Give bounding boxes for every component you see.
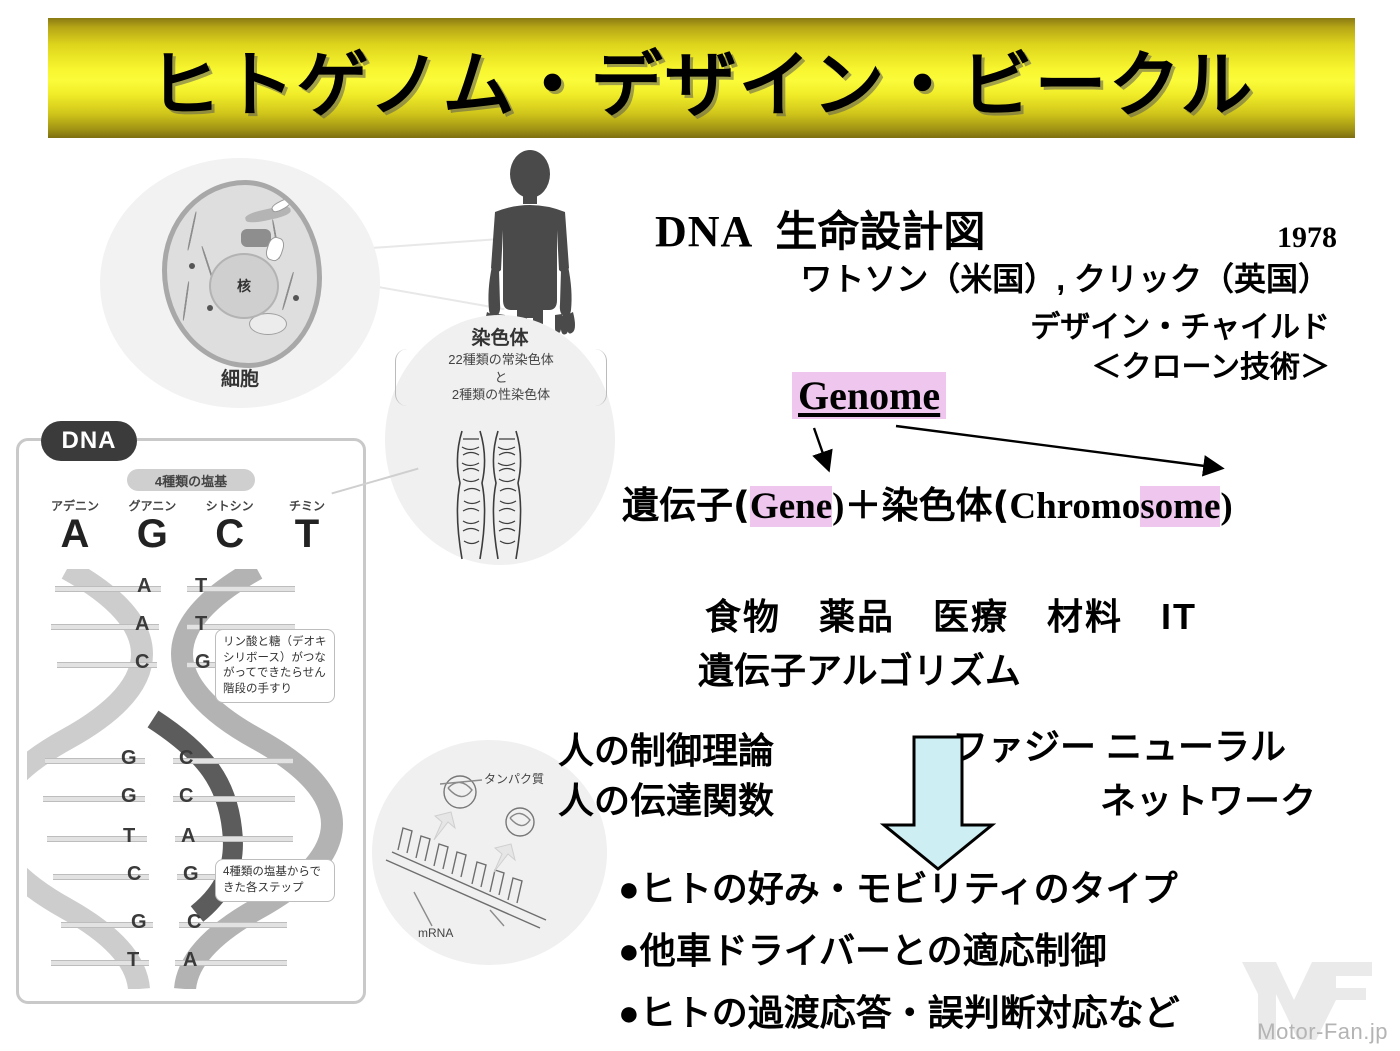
base-pair-row: G C: [43, 787, 295, 809]
down-arrow-icon: [878, 733, 998, 873]
chromosome-diagram: 染色体 22種類の常染色体 と 2種類の性染色体: [385, 315, 615, 565]
organelle-dot-2: [207, 305, 213, 311]
base-pair-left: G: [131, 911, 147, 934]
human-transfer-function-line: 人の伝達関数: [558, 772, 774, 824]
chromosome-sub-line3: 2種類の性染色体: [452, 387, 550, 402]
base-item: シトシン C: [196, 497, 264, 554]
chromosome-art: [440, 425, 560, 570]
base-pair-left: C: [127, 863, 141, 886]
base-pair-left: C: [135, 651, 149, 674]
eq-gene-en: Gene: [750, 486, 832, 527]
dna-tag-label: DNA: [41, 421, 137, 461]
design-child-line: デザイン・チャイルド: [1030, 302, 1330, 346]
applications-line: 食物 薬品 医療 材料 IT: [705, 588, 1197, 640]
base-letter: C: [196, 514, 264, 554]
bullet-list: ●ヒトの好み・モビリティのタイプ ●他車ドライバーとの適応制御 ●ヒトの過渡応答…: [618, 860, 1180, 1046]
page-title: ヒトゲノム・デザイン・ビークル: [149, 26, 1255, 131]
year-label: 1978: [1277, 221, 1337, 255]
list-item: ●ヒトの好み・モビリティのタイプ: [618, 860, 1180, 912]
eq-chr-en-plain: Chromo: [1009, 486, 1140, 527]
base-pair-right: A: [181, 825, 195, 848]
clone-tech-line: ＜クローン技術＞: [1092, 342, 1331, 386]
scientists-line: ワトソン（米国）, クリック（英国）: [800, 254, 1330, 300]
dna-heading: DNA: [655, 206, 753, 257]
network-line: ネットワーク: [1100, 772, 1316, 824]
base-item: アデニン A: [41, 497, 109, 554]
illustration-column: 核 細胞: [0, 140, 620, 1051]
arrow-genome-to-gene: [814, 428, 828, 468]
base-pair-right: T: [195, 575, 207, 598]
base-letter: G: [118, 514, 186, 554]
chromosome-sub-line2: と: [494, 370, 507, 385]
base-letter: T: [273, 514, 341, 554]
base-pair-left: T: [123, 825, 135, 848]
content-column: DNA 生命設計図 1978 ワトソン（米国）, クリック（英国） デザイン・チ…: [600, 150, 1390, 1050]
dna-heading-row: DNA 生命設計図 1978: [655, 198, 1375, 259]
organelle-er: [241, 229, 271, 247]
protein-label: タンパク質: [484, 770, 544, 787]
base-item: グアニン G: [118, 497, 186, 554]
organelle-dot-1: [189, 263, 195, 269]
base-pair-row: A T: [55, 577, 295, 599]
watermark-text: Motor-Fan.jp: [1257, 1019, 1388, 1045]
genome-equation: 遺伝子(Gene)＋染色体(Chromosome): [622, 475, 1233, 529]
base-legend-row: アデニン A グアニン G シトシン C チミン T: [41, 497, 341, 554]
list-item: ●ヒトの過渡応答・誤判断対応など: [618, 984, 1180, 1036]
chromosome-title: 染色体: [385, 323, 615, 350]
nucleus-label: 核: [237, 276, 251, 296]
base-pair-left: A: [137, 575, 151, 598]
arrow-genome-to-chromosome: [896, 426, 1220, 468]
dna-panel: DNA 4種類の塩基 アデニン A グアニン G シトシン C チミン T: [16, 438, 366, 1004]
base-pair-left: T: [127, 949, 139, 972]
base-pair-left: A: [135, 613, 149, 636]
base-item: チミン T: [273, 497, 341, 554]
base-pair-row: G C: [45, 749, 293, 771]
list-item: ●他車ドライバーとの適応制御: [618, 922, 1180, 974]
chromosome-sub-line1: 22種類の常染色体: [448, 352, 553, 367]
base-pair-row: G C: [61, 913, 287, 935]
base-pair-row: T A: [51, 951, 287, 973]
eq-gene-jp: 遺伝子(: [622, 484, 750, 527]
eq-chr-en-highlight: some: [1140, 486, 1220, 527]
eq-chr-jp: 染色体(: [881, 484, 1009, 527]
human-control-theory-line: 人の制御理論: [558, 722, 774, 774]
organelle-dot-3: [293, 295, 299, 301]
title-banner: ヒトゲノム・デザイン・ビークル: [48, 18, 1355, 138]
base-pair-right: C: [187, 911, 201, 934]
base-pair-right: G: [195, 651, 211, 674]
chromosome-subtitle: 22種類の常染色体 と 2種類の性染色体: [395, 349, 607, 406]
slide-root: ヒトゲノム・デザイン・ビークル 核: [0, 0, 1400, 1051]
base-letter: A: [41, 514, 109, 554]
base-pair-right: A: [183, 949, 197, 972]
base-pair-right: C: [179, 747, 193, 770]
base-pair-right: G: [183, 863, 199, 886]
base-pair-left: G: [121, 747, 137, 770]
eq-gene-close: )＋: [832, 486, 881, 527]
dna-heading-jp: 生命設計図: [775, 198, 985, 259]
dna-callout-backbone: リン酸と糖（デオキシリボース）がつながってできたらせん階段の手すり: [215, 629, 335, 703]
cell-membrane: 核: [162, 180, 322, 368]
dna-callout-steps: 4種類の塩基からできた各ステップ: [215, 859, 335, 902]
eq-chr-close: ): [1220, 486, 1232, 527]
bases-tag-label: 4種類の塩基: [127, 469, 255, 491]
base-pair-left: G: [121, 785, 137, 808]
mrna-label: mRNA: [418, 926, 453, 940]
genetic-algorithm-line: 遺伝子アルゴリズム: [698, 642, 1021, 694]
base-pair-right: T: [195, 613, 207, 636]
base-pair-row: T A: [47, 827, 293, 849]
base-pair-right: C: [179, 785, 193, 808]
genome-label: Genome: [792, 372, 946, 419]
fuzzy-neural-line: ファジー ニューラル: [952, 718, 1286, 770]
cell-nucleus: 核: [209, 253, 279, 319]
